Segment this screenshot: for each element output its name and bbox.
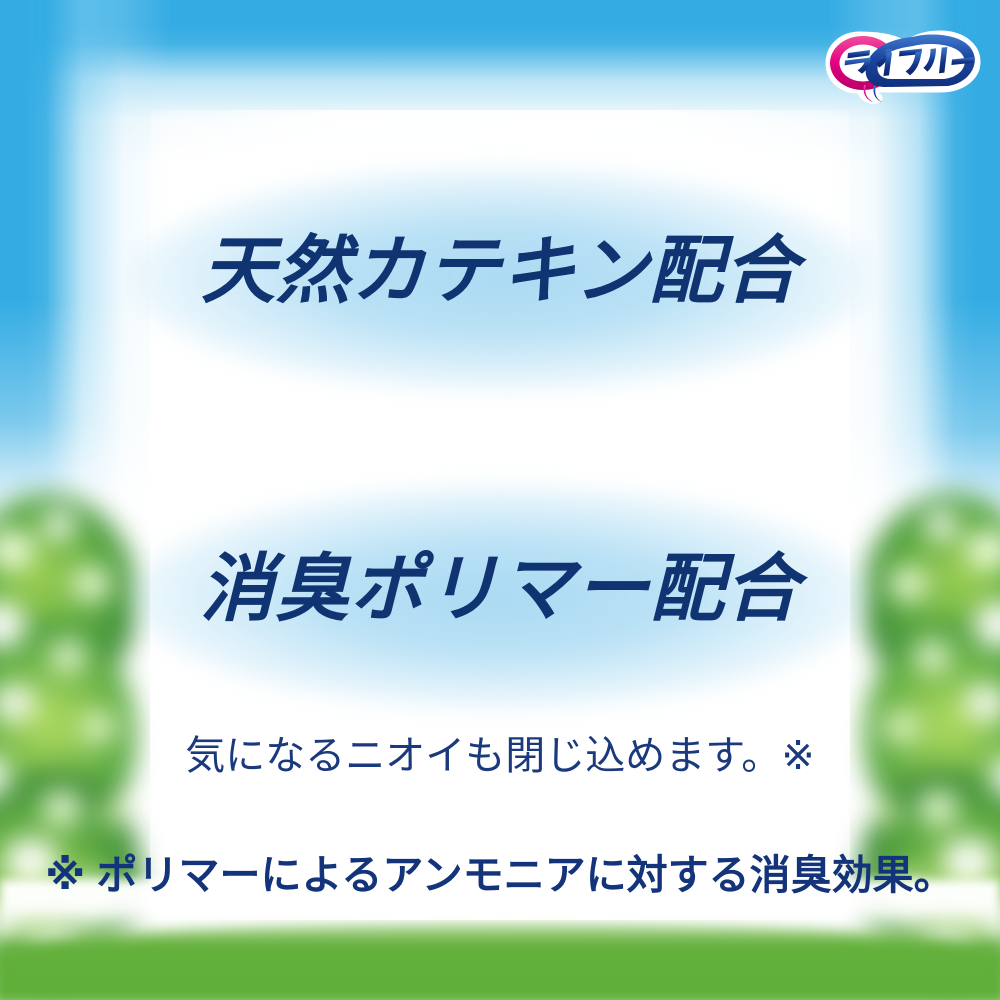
footnote-ammonia-note: ※ ポリマーによるアンモニアに対する消臭効果。 bbox=[0, 855, 1000, 896]
promo-banner: 天然カテキン配合 消臭ポリマー配合 気になるニオイも閉じ込めます。※ ※ ポリマ… bbox=[0, 0, 1000, 1000]
headline-natural-catechin: 天然カテキン配合 bbox=[0, 234, 1000, 308]
subline-odor-lock: 気になるニオイも閉じ込めます。※ bbox=[0, 736, 1000, 776]
headline-deodorant-polymer: 消臭ポリマー配合 bbox=[0, 552, 1000, 626]
lifree-logo[interactable] bbox=[812, 26, 988, 110]
